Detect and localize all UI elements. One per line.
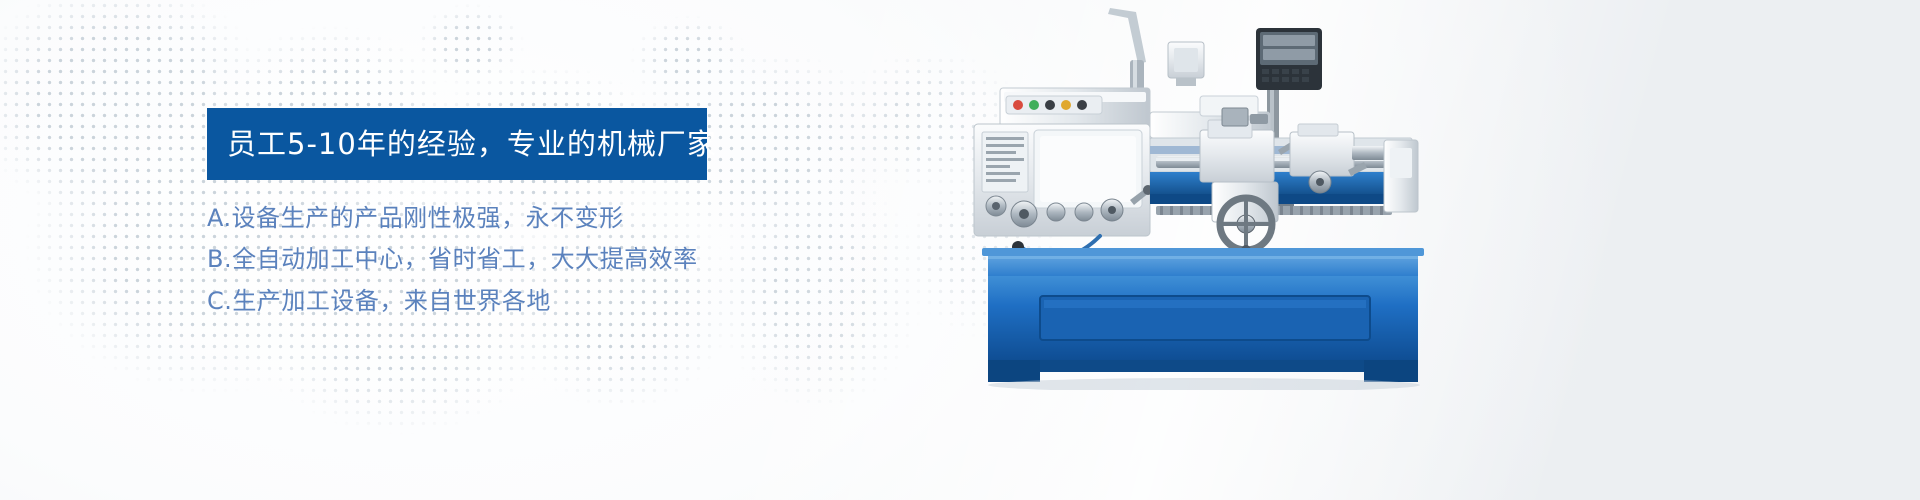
bullet-item-a: A.设备生产的产品刚性极强，永不变形 — [207, 198, 967, 239]
lathe-machine-image — [960, 0, 1490, 390]
promo-banner: 员工5-10年的经验，专业的机械厂家 A.设备生产的产品刚性极强，永不变形 B.… — [0, 0, 1920, 500]
bullet-item-c: C.生产加工设备，来自世界各地 — [207, 281, 967, 322]
control-panel — [1006, 96, 1102, 114]
headline-bar: 员工5-10年的经验，专业的机械厂家 — [207, 108, 707, 180]
base-cabinet — [982, 248, 1424, 382]
headline-text: 员工5-10年的经验，专业的机械厂家 — [227, 130, 717, 159]
junction-box — [1168, 42, 1204, 86]
bullet-list: A.设备生产的产品刚性极强，永不变形 B.全自动加工中心，省时省工，大大提高效率… — [207, 198, 967, 322]
end-plate — [1384, 140, 1418, 212]
bullet-item-b: B.全自动加工中心，省时省工，大大提高效率 — [207, 239, 967, 280]
copy-block: 员工5-10年的经验，专业的机械厂家 A.设备生产的产品刚性极强，永不变形 B.… — [207, 108, 967, 322]
